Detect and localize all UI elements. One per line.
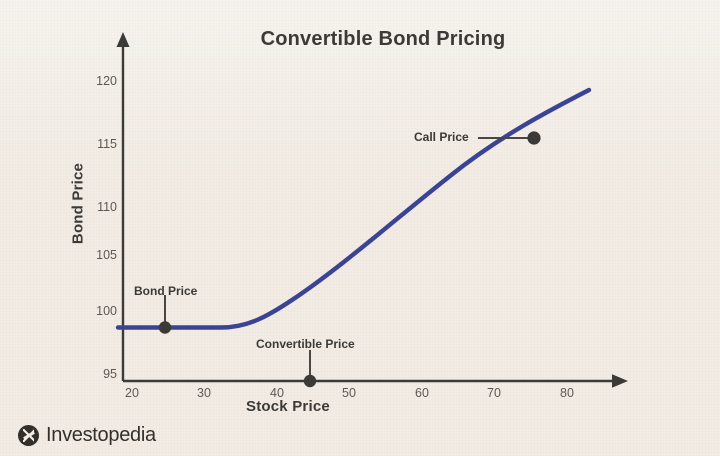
x-tick-label-80: 80	[550, 386, 584, 400]
annotation-convertible-price	[304, 350, 316, 387]
investopedia-logo: Investopedia	[18, 424, 156, 447]
chart-figure: Convertible Bond Pricing Bond Price Stoc…	[0, 0, 720, 456]
y-tick-label-110: 110	[83, 200, 117, 214]
y-tick-label-95: 95	[83, 367, 117, 381]
investopedia-circle-icon	[18, 425, 39, 446]
x-axis-title: Stock Price	[246, 398, 330, 415]
x-tick-label-40: 40	[260, 386, 294, 400]
y-tick-label-100: 100	[83, 304, 117, 318]
annotation-bond-price	[159, 295, 171, 334]
x-tick-label-20: 20	[115, 386, 149, 400]
x-tick-label-50: 50	[332, 386, 366, 400]
y-tick-label-120: 120	[83, 74, 117, 88]
x-tick-label-70: 70	[477, 386, 511, 400]
chart-title: Convertible Bond Pricing	[0, 28, 720, 51]
brand-name: Investopedia	[46, 424, 156, 447]
annotation-label-bond-price: Bond Price	[134, 284, 197, 298]
y-tick-label-105: 105	[83, 248, 117, 262]
annotation-label-call-price: Call Price	[414, 130, 469, 144]
annotation-label-convertible-price: Convertible Price	[256, 337, 355, 351]
x-tick-label-30: 30	[187, 386, 221, 400]
x-tick-label-60: 60	[405, 386, 439, 400]
y-tick-label-115: 115	[83, 137, 117, 151]
